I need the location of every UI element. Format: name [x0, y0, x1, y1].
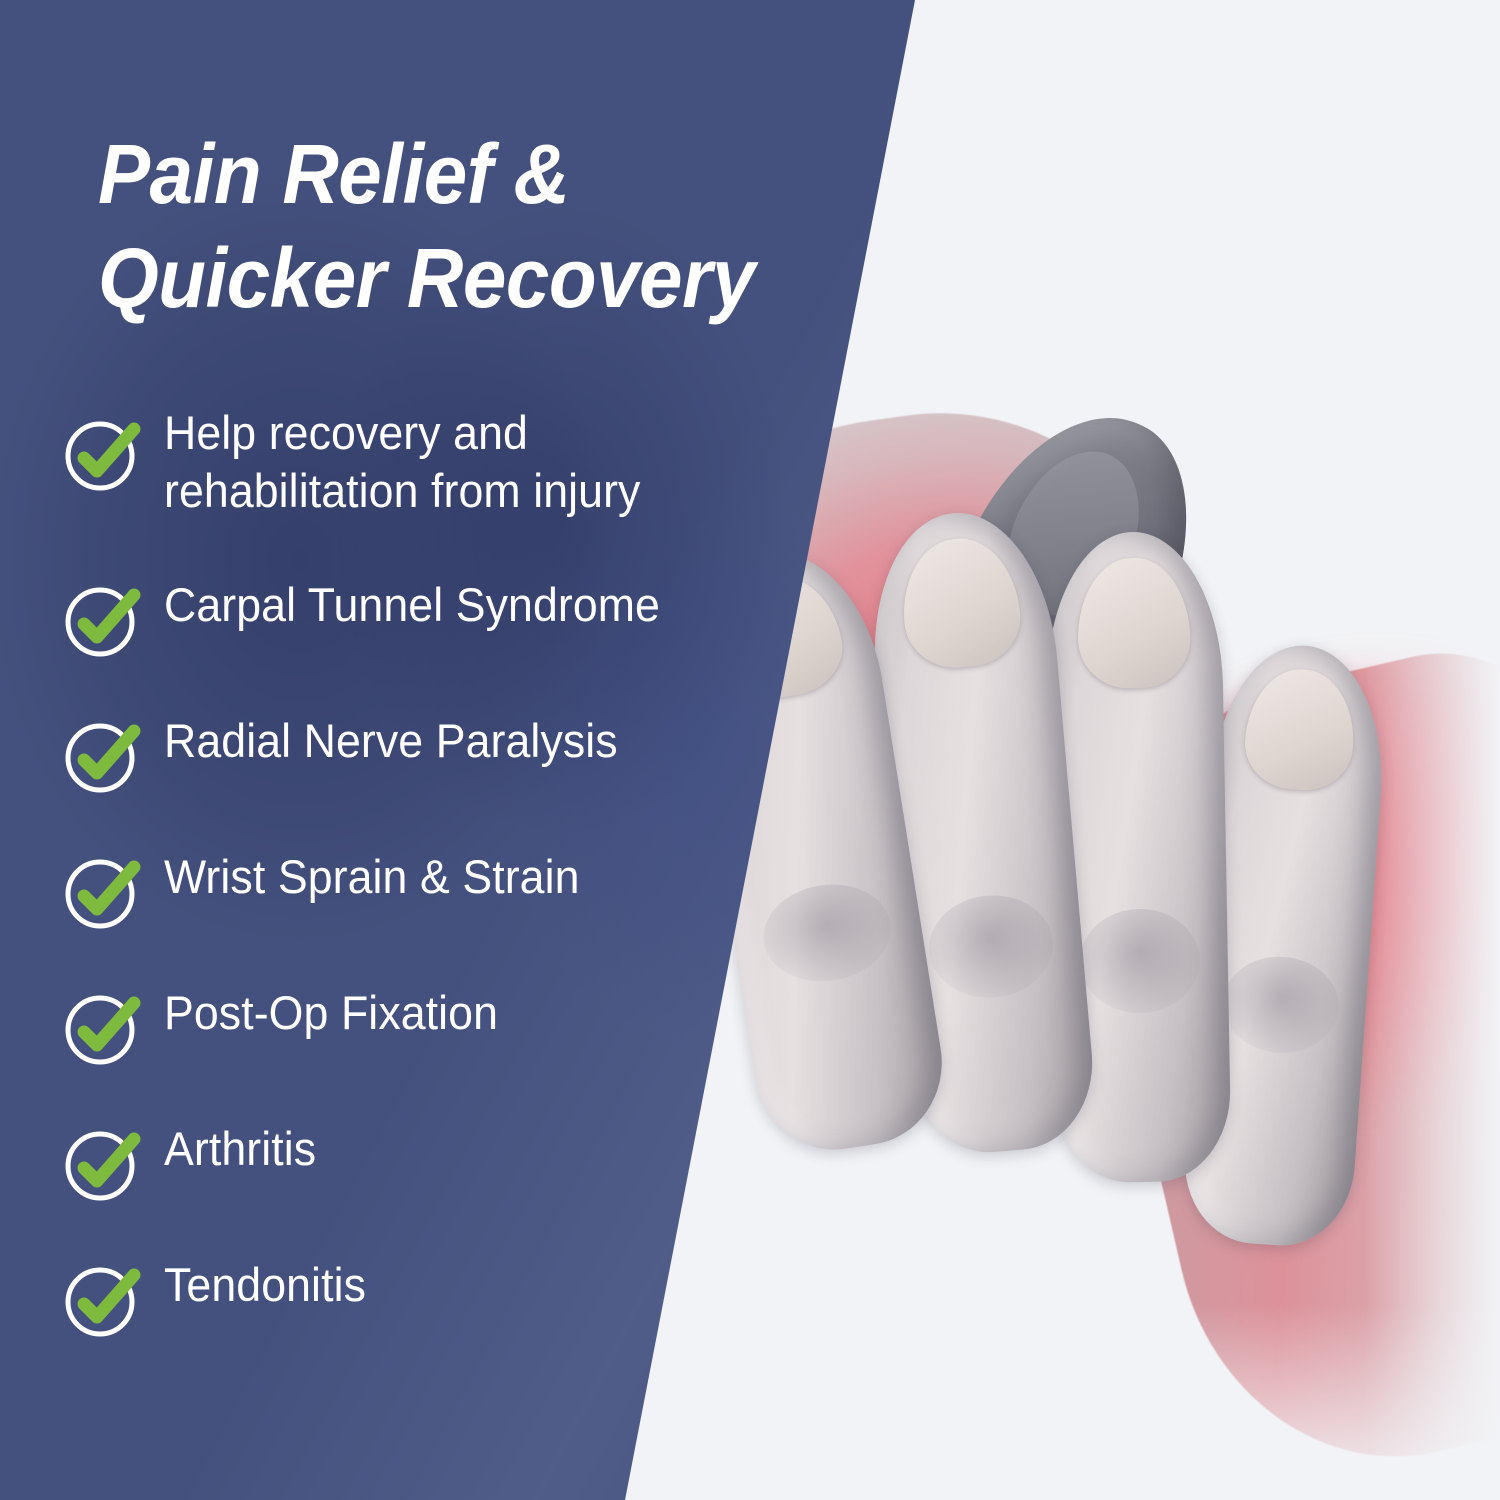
- list-item: Post-Op Fixation: [58, 978, 898, 1074]
- list-item: Carpal Tunnel Syndrome: [58, 570, 898, 666]
- list-item: Radial Nerve Paralysis: [58, 706, 898, 802]
- check-circle-icon: [58, 710, 150, 802]
- list-item-label: Carpal Tunnel Syndrome: [164, 570, 660, 634]
- list-item: Tendonitis: [58, 1250, 898, 1346]
- benefits-list: Help recovery and rehabilitation from in…: [58, 404, 898, 1354]
- list-item: Arthritis: [58, 1114, 898, 1210]
- product-benefits-poster: Pain Relief & Quicker Recovery Help reco…: [0, 0, 1500, 1500]
- page-title: Pain Relief & Quicker Recovery: [98, 122, 842, 330]
- list-item-label: Radial Nerve Paralysis: [164, 706, 618, 770]
- check-circle-icon: [58, 846, 150, 938]
- list-item-label: Help recovery and rehabilitation from in…: [164, 404, 640, 520]
- check-circle-icon: [58, 982, 150, 1074]
- check-circle-icon: [58, 1118, 150, 1210]
- list-item-label: Post-Op Fixation: [164, 978, 498, 1042]
- list-item: Help recovery and rehabilitation from in…: [58, 404, 898, 520]
- check-circle-icon: [58, 1254, 150, 1346]
- list-item-label: Tendonitis: [164, 1250, 366, 1314]
- check-circle-icon: [58, 408, 150, 500]
- poster-content: Pain Relief & Quicker Recovery Help reco…: [0, 0, 1500, 1500]
- list-item-label: Wrist Sprain & Strain: [164, 842, 580, 906]
- check-circle-icon: [58, 574, 150, 666]
- list-item: Wrist Sprain & Strain: [58, 842, 898, 938]
- list-item-label: Arthritis: [164, 1114, 316, 1178]
